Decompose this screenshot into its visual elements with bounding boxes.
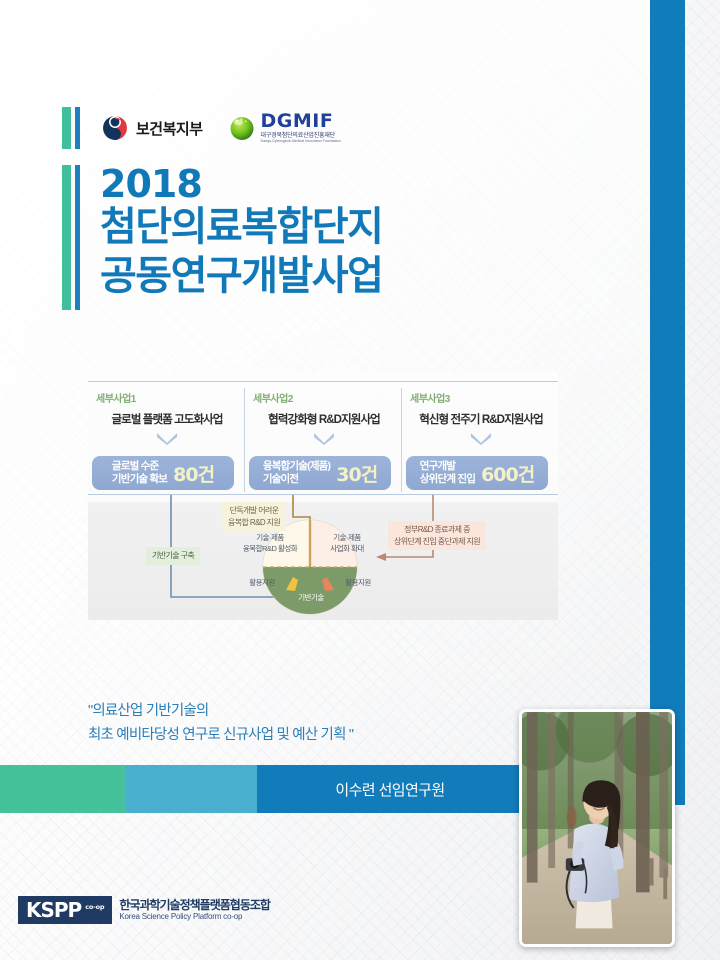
logo-row: 보건복지부 DGMIF 대구경북첨단의료산업진흥재단 xyxy=(62,108,341,148)
flow-note-middle-line1: 단독개발 어려운 xyxy=(230,506,279,515)
outcome-pill-3: 연구개발 상위단계 진입 600건 xyxy=(406,456,548,490)
kspp-logo-box: KSPP co-op xyxy=(18,896,112,924)
quote-line-2: 최초 예비타당성 연구로 신규사업 및 예산 기획 " xyxy=(88,724,353,748)
kspp-org-names: 한국과학기술정책플랫폼협동조합 Korea Science Policy Pla… xyxy=(119,899,270,922)
outcome-pill-2-label-line1: 융복합기술(제품) xyxy=(263,460,330,472)
color-bar-light-blue xyxy=(126,765,257,813)
outcome-pill-1: 글로벌 수준 기반기술 확보 80건 xyxy=(92,456,234,490)
flow-note-right-line1: 정부R&D 종료과제 중 xyxy=(404,525,470,534)
wheel-label-right: 기술·제품 사업화 확대 xyxy=(312,533,382,554)
logo-accent-bars xyxy=(62,107,80,149)
flow-note-right: 정부R&D 종료과제 중 상위단계 진입 중단과제 지원 xyxy=(388,521,486,550)
kspp-org-name-en: Korea Science Policy Platform co-op xyxy=(119,912,270,921)
wheel-center-label: 기반기술 xyxy=(284,593,338,604)
dgmif-acronym: DGMIF xyxy=(261,112,341,131)
subproject-3-name: 혁신형 전주기 R&D지원사업 xyxy=(410,411,558,427)
kspp-org-name-ko: 한국과학기술정책플랫폼협동조합 xyxy=(119,899,270,913)
outcome-pill-3-value: 600건 xyxy=(481,460,534,487)
title-accent-green xyxy=(62,165,71,310)
outcome-pill-3-label-line1: 연구개발 xyxy=(420,460,455,472)
right-blue-accent-bar xyxy=(650,0,685,805)
presenter-name: 이수련 선임연구원 xyxy=(257,765,523,813)
subproject-3-label: 세부사업3 xyxy=(410,390,558,405)
wheel-label-left-line1: 기술·제품 xyxy=(256,533,284,542)
wheel-label-left-line2: 융복합R&D 활성화 xyxy=(243,544,297,553)
wheel-label-right-line2: 사업화 확대 xyxy=(330,544,364,553)
support-label-right: 활용지원 xyxy=(334,578,382,589)
footer-logo: KSPP co-op 한국과학기술정책플랫폼협동조합 Korea Science… xyxy=(18,896,270,924)
outcome-pill-1-label: 글로벌 수준 기반기술 확보 xyxy=(112,460,167,486)
green-sphere-icon xyxy=(229,115,255,141)
chevron-down-icon xyxy=(253,432,401,450)
outcome-pill-1-value: 80건 xyxy=(173,460,214,487)
diagram-flow-area: 기반기술 구축 단독개발 어려운 융복합 R&D 지원 정부R&D 종료과제 중… xyxy=(88,495,558,620)
color-bar-green xyxy=(0,765,126,813)
kspp-coop-mark: co-op xyxy=(85,903,104,911)
outcome-pill-2: 융복합기술(제품) 기술이전 30건 xyxy=(249,456,391,490)
title-line-1: 첨단의료복합단지 xyxy=(100,203,382,252)
outcome-pill-1-label-line1: 글로벌 수준 xyxy=(112,460,158,472)
title-accent-blue xyxy=(75,165,80,310)
dgmif-logo: DGMIF 대구경북첨단의료산업진흥재단 Daegu-Gyeongbuk Med… xyxy=(229,112,341,144)
wheel-label-left: 기술·제품 융복합R&D 활성화 xyxy=(228,533,312,554)
program-structure-diagram: 세부사업1 글로벌 플랫폼 고도화사업 글로벌 수준 기반기술 확보 80건 세… xyxy=(88,372,558,620)
subproject-column-3: 세부사업3 혁신형 전주기 R&D지원사업 연구개발 상위단계 진입 600건 xyxy=(401,388,558,492)
outcome-pill-3-label: 연구개발 상위단계 진입 xyxy=(420,460,475,486)
title-year: 2018 xyxy=(100,165,382,203)
mohw-logo: 보건복지부 xyxy=(102,115,203,141)
dgmif-subtitle-en: Daegu-Gyeongbuk Medical Innovation Found… xyxy=(261,140,341,144)
diagram-rule-top xyxy=(88,381,558,382)
subproject-1-name: 글로벌 플랫폼 고도화사업 xyxy=(96,411,244,427)
subproject-2-label: 세부사업2 xyxy=(253,390,401,405)
mohw-logo-text: 보건복지부 xyxy=(136,118,203,139)
highlight-quote: "의료산업 기반기술의 최초 예비타당성 연구로 신규사업 및 예산 기획 " xyxy=(88,700,353,748)
subproject-column-2: 세부사업2 협력강화형 R&D지원사업 융복합기술(제품) 기술이전 30건 xyxy=(244,388,401,492)
chevron-down-icon xyxy=(410,432,558,450)
flow-note-right-line2: 상위단계 진입 중단과제 지원 xyxy=(394,537,480,546)
page-title: 2018 첨단의료복합단지 공동연구개발사업 xyxy=(100,165,382,310)
subproject-columns: 세부사업1 글로벌 플랫폼 고도화사업 글로벌 수준 기반기술 확보 80건 세… xyxy=(88,388,558,492)
subproject-1-label: 세부사업1 xyxy=(96,390,244,405)
accent-bar-green xyxy=(62,107,71,149)
subproject-2-name: 협력강화형 R&D지원사업 xyxy=(253,411,401,427)
subproject-column-1: 세부사업1 글로벌 플랫폼 고도화사업 글로벌 수준 기반기술 확보 80건 xyxy=(88,388,244,492)
outcome-pill-1-label-line2: 기반기술 확보 xyxy=(112,473,167,485)
wheel-label-right-line1: 기술·제품 xyxy=(333,533,361,542)
flow-note-left: 기반기술 구축 xyxy=(146,547,200,565)
title-accent-bars xyxy=(62,165,80,310)
outcome-pill-2-value: 30건 xyxy=(336,460,377,487)
dgmif-text-block: DGMIF 대구경북첨단의료산업진흥재단 Daegu-Gyeongbuk Med… xyxy=(261,112,341,144)
accent-bar-blue xyxy=(75,107,80,149)
flow-note-middle-line2: 융복합 R&D 지원 xyxy=(228,518,280,527)
outcome-pill-2-label-line2: 기술이전 xyxy=(263,473,298,485)
flow-note-middle: 단독개발 어려운 융복합 R&D 지원 xyxy=(222,502,286,531)
quote-line-1: "의료산업 기반기술의 xyxy=(88,700,353,724)
title-block: 2018 첨단의료복합단지 공동연구개발사업 xyxy=(62,165,382,310)
outcome-pill-2-label: 융복합기술(제품) 기술이전 xyxy=(263,460,330,486)
taegeuk-icon xyxy=(102,115,128,141)
forest-portrait-photo xyxy=(519,709,675,947)
title-line-2: 공동연구개발사업 xyxy=(100,252,382,301)
chevron-down-icon xyxy=(96,432,244,450)
outcome-pill-3-label-line2: 상위단계 진입 xyxy=(420,473,475,485)
support-label-left: 활용지원 xyxy=(238,578,286,589)
kspp-wordmark: KSPP xyxy=(26,900,81,920)
